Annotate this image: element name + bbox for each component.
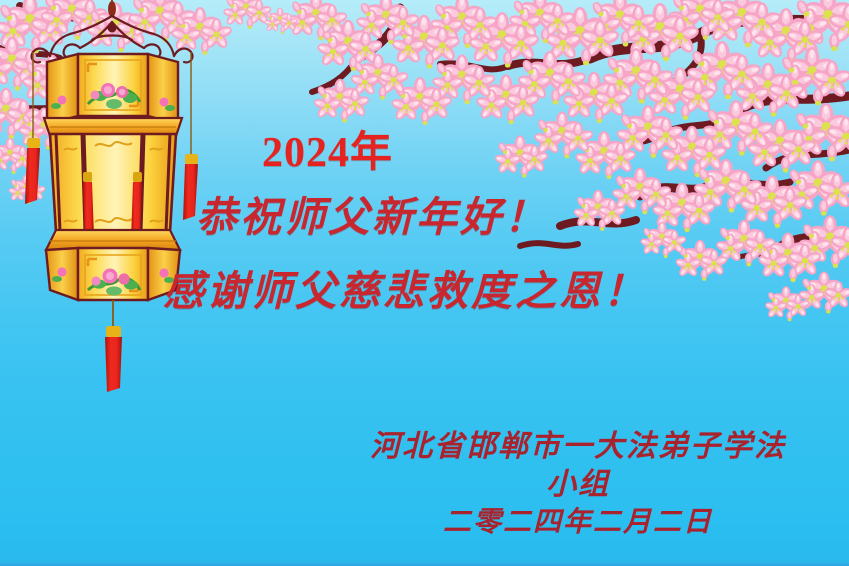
new-year-greeting-card: 2024年 恭祝师父新年好！ 感谢师父慈悲救度之恩！ 河北省邯郸市一大法弟子学法… <box>0 0 849 566</box>
lantern-bottom-tassel <box>105 300 122 392</box>
lantern-hang-wire <box>108 0 116 17</box>
lantern-bottom-drum <box>46 248 180 300</box>
signature-date: 二零二四年二月二日 <box>358 503 798 541</box>
greeting-year-line: 2024年 <box>262 118 393 179</box>
lantern-side-tassel-left <box>25 52 40 204</box>
signature-organization: 河北省邯郸市一大法弟子学法小组 <box>358 428 798 503</box>
bottom-edge-strip <box>0 562 849 566</box>
greeting-thanks-line: 感谢师父慈悲救度之恩！ <box>163 257 647 317</box>
greeting-wish-line: 恭祝师父新年好！ <box>196 183 548 243</box>
lantern-top-drum <box>47 54 178 124</box>
signature-block: 河北省邯郸市一大法弟子学法小组 二零二四年二月二日 <box>358 428 798 541</box>
lantern-body <box>50 134 176 240</box>
